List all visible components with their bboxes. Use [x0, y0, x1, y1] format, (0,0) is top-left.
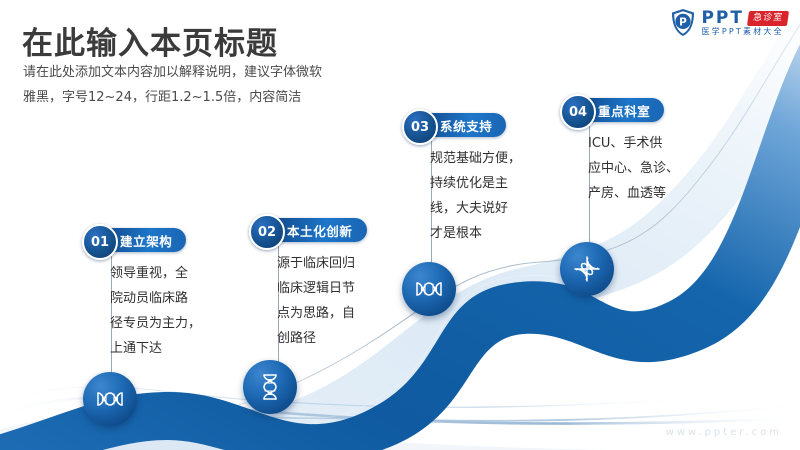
step-pill-02[interactable]: 02 本土化创新: [255, 218, 367, 242]
step-item-01[interactable]: 01 建立架构 领导重视，全 院动员临床路 径专员为主力， 上通下达: [88, 228, 218, 361]
logo-text-block: PPT 急诊室 医学PPT素材大全: [701, 10, 788, 36]
step-number-03: 03: [411, 120, 429, 135]
step-body-line: 规范基础方便，: [430, 146, 538, 171]
step-body-line: 应中心、急诊、: [588, 156, 696, 181]
step-item-02[interactable]: 02 本土化创新 源于临床回归 临床逻辑日节 点为思路，自 创路径: [255, 218, 385, 351]
node-circle-01[interactable]: [83, 372, 137, 426]
site-watermark: www.ppter.com: [666, 427, 782, 438]
dna-helix-horizontal-icon: [95, 390, 125, 408]
step-body-line: 持续优化是主: [430, 171, 538, 196]
step-body-01: 领导重视，全 院动员临床路 径专员为主力， 上通下达: [110, 261, 218, 361]
step-body-line: 点为思路，自: [277, 301, 385, 326]
step-body-line: 才是根本: [430, 221, 538, 246]
svg-text:P: P: [680, 17, 688, 29]
page-subtitle: 请在此处添加文本内容加以解释说明，建议字体微软 雅黑，字号12~24，行距1.2…: [23, 60, 383, 110]
step-number-01: 01: [91, 235, 109, 250]
step-item-03[interactable]: 03 系统支持 规范基础方便， 持续优化是主 线，大夫说好 才是根本: [408, 113, 538, 246]
step-number-badge-01: 01: [82, 224, 118, 260]
step-title-01: 建立架构: [120, 231, 172, 250]
logo-tagline: 医学PPT素材大全: [701, 28, 788, 36]
step-title-02: 本土化创新: [287, 221, 353, 240]
step-body-line: 线，大夫说好: [430, 196, 538, 221]
step-body-line: 院动员临床路: [110, 286, 218, 311]
step-body-line: 临床逻辑日节: [277, 276, 385, 301]
step-number-badge-03: 03: [402, 109, 438, 145]
page-subtitle-line-1: 请在此处添加文本内容加以解释说明，建议字体微软: [23, 60, 383, 85]
dna-helix-horizontal-icon: [414, 280, 444, 298]
brand-logo[interactable]: P PPT 急诊室 医学PPT素材大全: [670, 8, 788, 37]
step-pill-04[interactable]: 04 重点科室: [566, 98, 664, 122]
step-pill-01[interactable]: 01 建立架构: [88, 228, 186, 252]
page-title: 在此输入本页标题: [22, 18, 278, 63]
page-subtitle-line-2: 雅黑，字号12~24，行距1.2~1.5倍，内容简洁: [23, 85, 383, 110]
shield-icon: P: [670, 8, 696, 37]
slide-canvas: 在此输入本页标题 请在此处添加文本内容加以解释说明，建议字体微软 雅黑，字号12…: [0, 0, 800, 450]
step-body-line: 领导重视，全: [110, 261, 218, 286]
step-body-line: 产房、血透等: [588, 181, 696, 206]
step-pill-03[interactable]: 03 系统支持: [408, 113, 506, 137]
logo-wordmark: PPT: [701, 10, 744, 27]
step-body-line: 源于临床回归: [277, 251, 385, 276]
node-circle-04[interactable]: [560, 242, 614, 296]
step-number-04: 04: [569, 105, 587, 120]
node-circle-02[interactable]: [243, 360, 297, 414]
step-title-03: 系统支持: [440, 116, 492, 135]
step-body-02: 源于临床回归 临床逻辑日节 点为思路，自 创路径: [277, 251, 385, 351]
logo-badge: 急诊室: [747, 11, 789, 26]
logo-wordmark-row: PPT 急诊室: [701, 10, 788, 27]
step-number-02: 02: [258, 225, 276, 240]
step-item-04[interactable]: 04 重点科室 ICU、手术供 应中心、急诊、 产房、血透等: [566, 98, 696, 206]
step-number-badge-04: 04: [560, 94, 596, 130]
dna-helix-cross-icon: [573, 255, 601, 283]
step-body-04: ICU、手术供 应中心、急诊、 产房、血透等: [588, 131, 696, 206]
node-circle-03[interactable]: [402, 262, 456, 316]
step-body-line: 上通下达: [110, 336, 218, 361]
dna-helix-vertical-icon: [261, 372, 279, 402]
step-body-line: 径专员为主力，: [110, 311, 218, 336]
step-body-line: ICU、手术供: [588, 131, 696, 156]
step-body-03: 规范基础方便， 持续优化是主 线，大夫说好 才是根本: [430, 146, 538, 246]
step-body-line: 创路径: [277, 326, 385, 351]
step-number-badge-02: 02: [249, 214, 285, 250]
step-title-04: 重点科室: [598, 101, 650, 120]
